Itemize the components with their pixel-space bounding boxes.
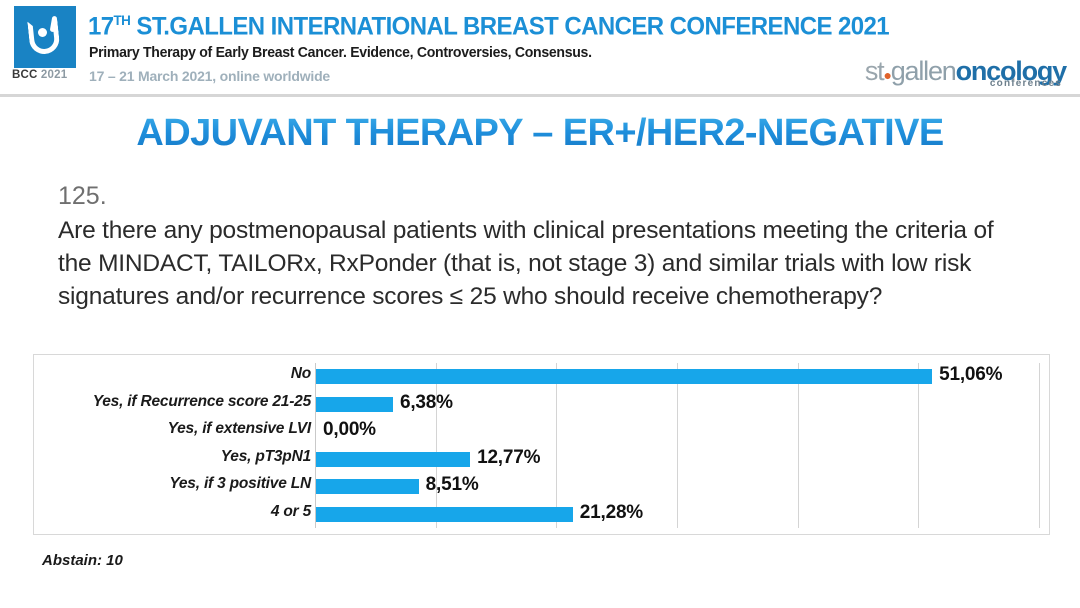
chart-category-label: Yes, if extensive LVI (43, 420, 311, 438)
chart-bar (316, 452, 470, 467)
bcc-logo-caption-year: 2021 (41, 69, 67, 81)
question-text: Are there any postmenopausal patients wi… (58, 214, 1026, 313)
chart-category-label: No (43, 365, 311, 383)
question-number: 125. (58, 182, 107, 211)
chart-category-row: Yes, if extensive LVI (39, 418, 311, 446)
bcc-logo-block: BCC 2021 (12, 6, 80, 88)
results-bar-chart: NoYes, if Recurrence score 21-25Yes, if … (33, 354, 1050, 535)
chart-bar (316, 479, 419, 494)
conference-title: 17TH ST.GALLEN INTERNATIONAL BREAST CANC… (88, 12, 889, 41)
conference-date: 17 – 21 March 2021, online worldwide (89, 68, 330, 84)
chart-plot-area: 51,06%6,38%0,00%12,77%8,51%21,28% (315, 363, 1039, 528)
sgo-logo-st: st (865, 56, 884, 86)
conference-subtitle: Primary Therapy of Early Breast Cancer. … (89, 45, 592, 61)
chart-bar-row: 0,00% (315, 418, 1039, 446)
chart-category-labels: NoYes, if Recurrence score 21-25Yes, if … (39, 363, 311, 528)
breast-glyph-dot (38, 28, 47, 37)
chart-category-row: Yes, if Recurrence score 21-25 (39, 391, 311, 419)
sgo-logo-dot-icon: ● (883, 67, 890, 83)
chart-category-label: Yes, if 3 positive LN (43, 475, 311, 493)
conference-header: BCC 2021 17TH ST.GALLEN INTERNATIONAL BR… (0, 0, 1080, 96)
header-divider (0, 94, 1080, 97)
chart-category-row: No (39, 363, 311, 391)
chart-bar-value-label: 0,00% (323, 419, 376, 441)
chart-category-row: 4 or 5 (39, 501, 311, 529)
chart-bar-row: 6,38% (315, 391, 1039, 419)
conference-title-ordinal: TH (114, 12, 131, 28)
conference-title-prefix: 17 (88, 12, 114, 40)
breast-glyph-icon (27, 16, 61, 58)
chart-bar-value-label: 21,28% (580, 502, 643, 524)
chart-bar (316, 369, 932, 384)
chart-bar (316, 507, 573, 522)
chart-bar-value-label: 51,06% (939, 364, 1002, 386)
chart-bar-value-label: 6,38% (400, 392, 453, 414)
chart-category-label: Yes, if Recurrence score 21-25 (43, 393, 311, 411)
sgo-logo-gallen: gallen (891, 56, 956, 86)
abstain-count: Abstain: 10 (42, 552, 123, 569)
chart-bar-row: 12,77% (315, 446, 1039, 474)
chart-category-label: Yes, pT3pN1 (43, 448, 311, 466)
chart-bar-value-label: 12,77% (477, 447, 540, 469)
slide-root: BCC 2021 17TH ST.GALLEN INTERNATIONAL BR… (0, 0, 1080, 608)
chart-category-label: 4 or 5 (43, 503, 311, 521)
page-title: ADJUVANT THERAPY – ER+/HER2-NEGATIVE (0, 112, 1080, 155)
chart-bar-row: 21,28% (315, 501, 1039, 529)
chart-gridline (1039, 363, 1040, 528)
bcc-logo-caption: BCC 2021 (12, 69, 84, 81)
chart-category-row: Yes, pT3pN1 (39, 446, 311, 474)
sgo-logo-tagline: conferences (990, 78, 1062, 89)
bcc-logo-caption-bcc: BCC (12, 69, 38, 81)
chart-category-row: Yes, if 3 positive LN (39, 473, 311, 501)
chart-bar (316, 397, 393, 412)
chart-bar-value-label: 8,51% (426, 474, 479, 496)
bcc-breast-logo-icon (14, 6, 76, 68)
chart-bar-row: 8,51% (315, 473, 1039, 501)
conference-title-rest: ST.GALLEN INTERNATIONAL BREAST CANCER CO… (130, 12, 889, 40)
chart-bar-row: 51,06% (315, 363, 1039, 391)
